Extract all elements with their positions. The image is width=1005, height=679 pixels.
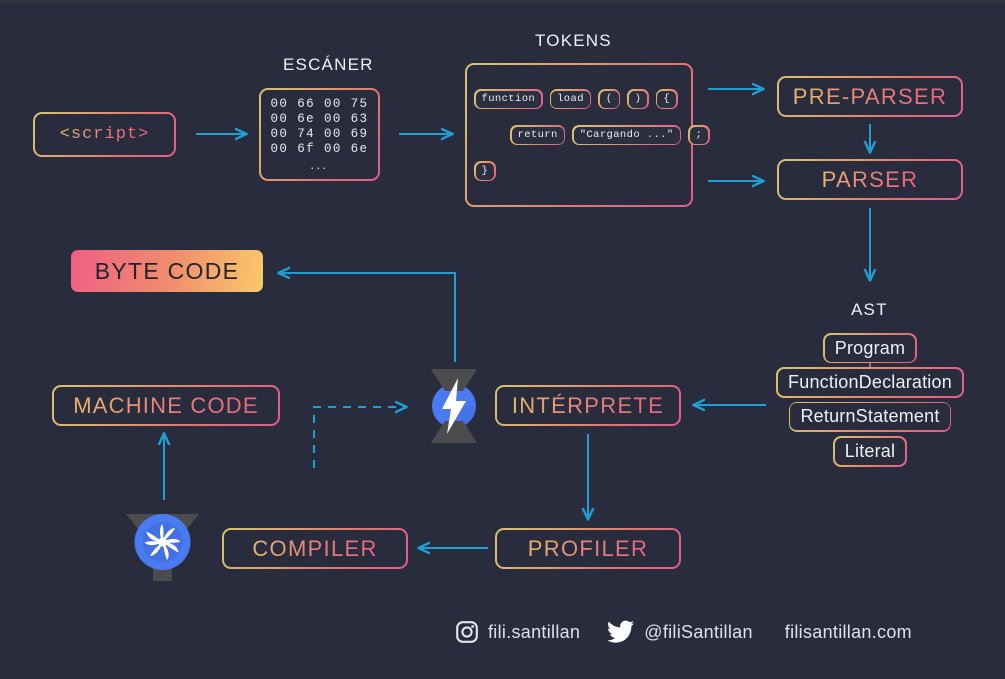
- token-text: "Cargando ...": [574, 127, 680, 144]
- pre-parser-label: PRE-PARSER: [793, 84, 947, 110]
- instagram-icon: [455, 620, 479, 644]
- hex-line: 00 66 00 75: [271, 97, 369, 111]
- diagram-canvas: ESCÁNER TOKENS AST <script> 00 66 00 75 …: [0, 0, 1005, 679]
- token-pill[interactable]: return: [510, 125, 565, 145]
- compiler-node[interactable]: COMPILER: [222, 528, 408, 569]
- hex-line: 00 6e 00 63: [271, 112, 369, 126]
- twitter-credit[interactable]: @filiSantillan: [608, 620, 753, 644]
- ast-row: ReturnStatement: [770, 402, 970, 432]
- byte-code-label: BYTE CODE: [95, 258, 240, 285]
- twitter-icon: [608, 620, 635, 644]
- token-text: }: [476, 163, 495, 180]
- token-pill[interactable]: ): [627, 89, 649, 109]
- token-pill[interactable]: }: [474, 161, 496, 181]
- hex-line: 00 6f 00 6e: [271, 142, 369, 156]
- ast-row: Program: [770, 333, 970, 363]
- token-pill[interactable]: "Cargando ...": [572, 125, 681, 145]
- profiler-node[interactable]: PROFILER: [495, 528, 681, 569]
- token-text: ;: [690, 127, 709, 144]
- hex-ellipsis: ...: [310, 157, 328, 172]
- ast-node[interactable]: ReturnStatement: [789, 402, 951, 432]
- ast-tree: Program FunctionDeclaration ReturnStatem…: [770, 333, 970, 471]
- profiler-label: PROFILER: [528, 536, 648, 562]
- instagram-credit[interactable]: fili.santillan: [455, 620, 580, 644]
- token-pill[interactable]: {: [656, 89, 678, 109]
- ast-node[interactable]: Program: [823, 333, 917, 363]
- token-text: load: [551, 91, 590, 108]
- footer: fili.santillan @filiSantillan filisantil…: [455, 612, 912, 652]
- scanner-node[interactable]: 00 66 00 75 00 6e 00 63 00 74 00 69 00 6…: [259, 88, 380, 181]
- scanner-stage-label: ESCÁNER: [283, 55, 374, 75]
- ast-node-label: ReturnStatement: [790, 403, 949, 430]
- arrow-ignition-to-bytecode: [279, 273, 455, 362]
- compiler-label: COMPILER: [252, 536, 377, 562]
- ast-node-label: Literal: [835, 438, 905, 465]
- arrow-compiler-to-ignition-dashed: [314, 407, 406, 468]
- instagram-handle: fili.santillan: [488, 622, 580, 643]
- token-pill[interactable]: function: [474, 89, 543, 109]
- byte-code-node[interactable]: BYTE CODE: [71, 250, 263, 292]
- script-node[interactable]: <script>: [33, 112, 176, 157]
- top-edge-band: [0, 0, 1005, 4]
- ast-node[interactable]: FunctionDeclaration: [776, 367, 963, 397]
- parser-node[interactable]: PARSER: [777, 159, 963, 200]
- website-url[interactable]: filisantillan.com: [785, 622, 912, 643]
- token-pill[interactable]: load: [550, 89, 592, 109]
- machine-code-label: MACHINE CODE: [73, 393, 259, 419]
- token-pill[interactable]: ;: [688, 125, 710, 145]
- token-row: }: [474, 161, 496, 181]
- ast-stage-label: AST: [851, 300, 888, 320]
- ast-row: Literal: [770, 436, 970, 466]
- ast-row: FunctionDeclaration: [770, 367, 970, 397]
- ast-node-label: Program: [825, 335, 915, 362]
- hex-line: 00 74 00 69: [271, 127, 369, 141]
- token-text: {: [657, 91, 676, 108]
- token-text: ): [629, 91, 648, 108]
- tokens-stage-label: TOKENS: [535, 31, 612, 51]
- token-row: function load ( ) {: [474, 89, 678, 109]
- ast-node[interactable]: Literal: [833, 436, 907, 466]
- token-text: return: [512, 127, 564, 144]
- machine-code-node[interactable]: MACHINE CODE: [52, 385, 280, 426]
- parser-label: PARSER: [822, 167, 919, 193]
- interpreter-node[interactable]: INTÉRPRETE: [495, 385, 681, 426]
- twitter-handle: @filiSantillan: [644, 622, 753, 643]
- token-pill[interactable]: (: [598, 89, 620, 109]
- turbofan-icon: [115, 500, 210, 585]
- interpreter-label: INTÉRPRETE: [512, 393, 664, 419]
- script-label: <script>: [60, 125, 150, 144]
- ignition-icon: [418, 366, 490, 446]
- pre-parser-node[interactable]: PRE-PARSER: [777, 76, 963, 117]
- token-text: (: [600, 91, 619, 108]
- token-row: return "Cargando ..." ;: [510, 125, 710, 145]
- token-text: function: [476, 91, 542, 108]
- tokens-node[interactable]: function load ( ) { return "Cargando ...…: [465, 63, 693, 207]
- ast-node-label: FunctionDeclaration: [778, 369, 962, 396]
